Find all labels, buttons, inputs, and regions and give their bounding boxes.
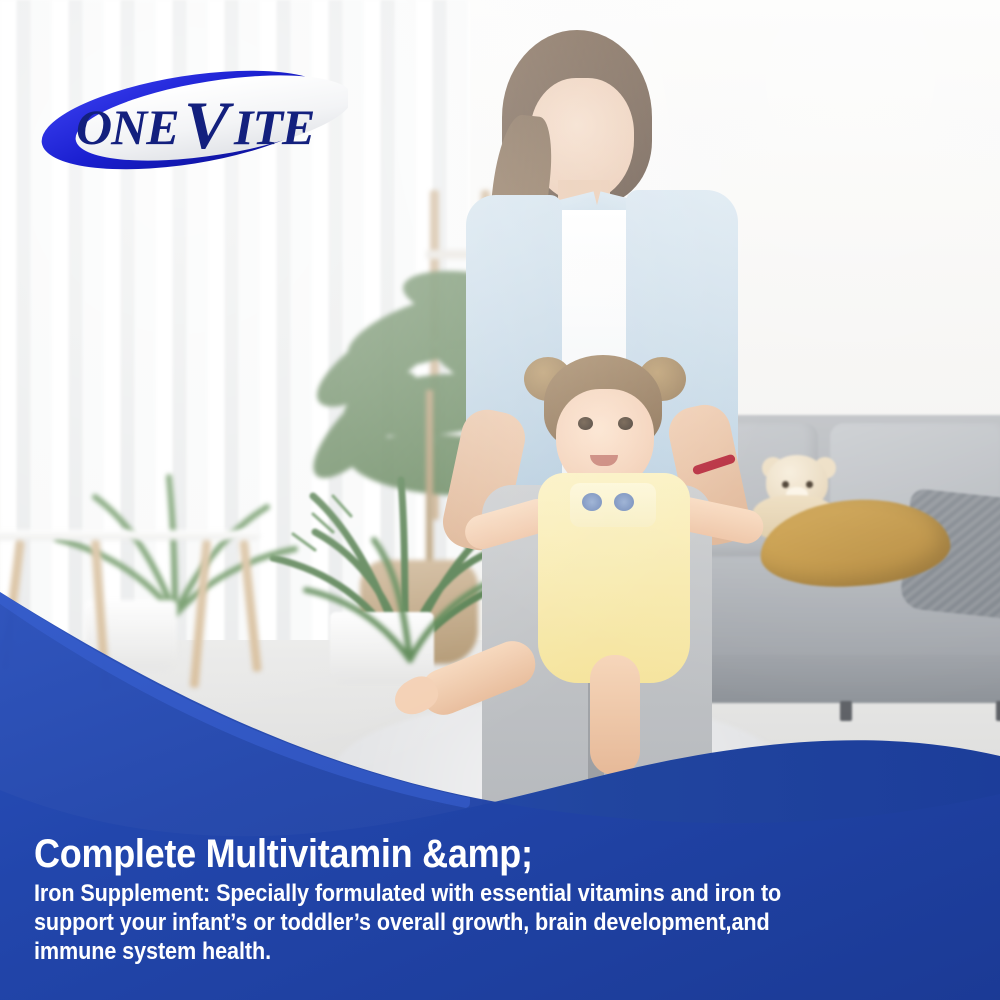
- banner-headline: Complete Multivitamin &amp;: [34, 831, 858, 877]
- logo-word-ite: ITE: [233, 99, 314, 155]
- product-lifestyle-banner: ONE V ITE: [0, 0, 1000, 1000]
- banner-body-line-2: support your infant’s or toddler’s overa…: [34, 908, 858, 937]
- logo-word-one: ONE: [76, 99, 179, 155]
- brand-logo: ONE V ITE: [38, 68, 348, 180]
- banner-body-line-3: immune system health.: [34, 937, 858, 966]
- banner-body-line-1: Iron Supplement: Specially formulated wi…: [34, 879, 858, 908]
- banner-copy: Complete Multivitamin &amp; Iron Supplem…: [34, 831, 950, 966]
- logo-word-v: V: [184, 87, 234, 163]
- blue-banner: Complete Multivitamin &amp; Iron Supplem…: [0, 580, 1000, 1000]
